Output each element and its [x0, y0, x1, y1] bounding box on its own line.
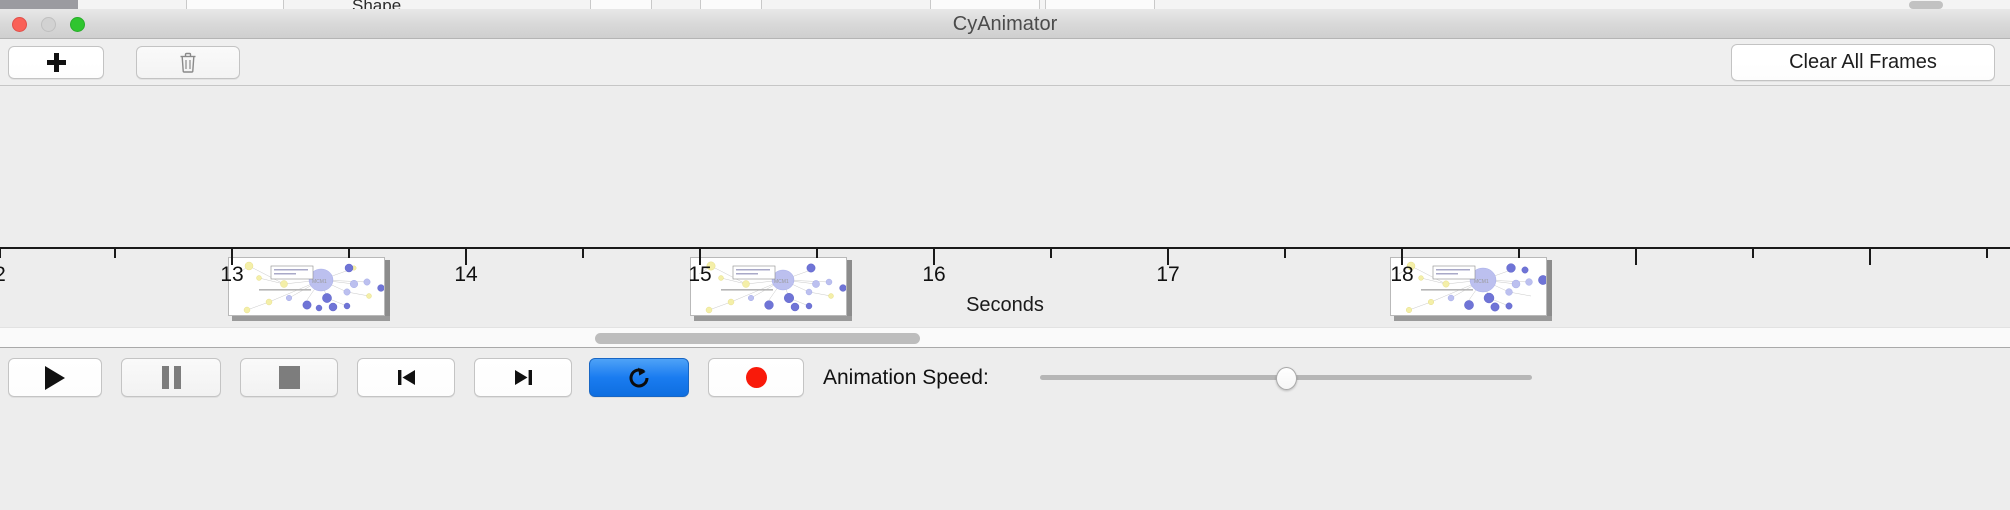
timeline-ruler-line — [0, 247, 2010, 249]
add-frame-button[interactable] — [8, 46, 104, 79]
skip-to-end-icon — [512, 366, 535, 389]
loop-button[interactable] — [589, 358, 689, 397]
slider-thumb[interactable] — [1276, 367, 1297, 390]
ruler-tick-label: 13 — [206, 263, 258, 287]
ruler-tick-minor — [348, 249, 350, 258]
record-icon — [746, 367, 767, 388]
ruler-tick-label: 2 — [0, 263, 14, 287]
background-window-scrollbar — [1909, 1, 1943, 9]
timeline-horizontal-scrollbar[interactable] — [0, 327, 2010, 348]
ruler-tick-minor — [1986, 249, 1988, 258]
pause-button[interactable] — [121, 358, 221, 397]
timeline-axis-title: Seconds — [0, 294, 2010, 317]
animation-speed-slider[interactable] — [1040, 358, 1532, 397]
background-window-strip: Shape — [0, 0, 2010, 9]
timeline-panel[interactable]: MCM1 — [0, 87, 2010, 327]
svg-text:MCM1: MCM1 — [1474, 279, 1489, 285]
ruler-tick-minor — [582, 249, 584, 258]
background-window-tab-e — [1045, 0, 1155, 9]
background-window-tab-b — [590, 0, 652, 9]
background-window-tab-d — [930, 0, 1040, 9]
page-title: CyAnimator — [0, 9, 2010, 39]
ruler-tick-minor — [114, 249, 116, 258]
background-window-tab-a — [186, 0, 284, 9]
skip-to-start-button[interactable] — [357, 358, 455, 397]
stop-button[interactable] — [240, 358, 338, 397]
ruler-tick-label: 16 — [908, 263, 960, 287]
pause-icon — [162, 366, 181, 389]
ruler-tick-minor — [1752, 249, 1754, 258]
clear-all-frames-button[interactable]: Clear All Frames — [1731, 44, 1995, 81]
ruler-tick-label: 14 — [440, 263, 492, 287]
animation-speed-label: Animation Speed: — [823, 358, 989, 397]
skip-to-end-button[interactable] — [474, 358, 572, 397]
ruler-tick-minor — [1518, 249, 1520, 258]
ruler-tick-minor — [0, 249, 1, 258]
play-button[interactable] — [8, 358, 102, 397]
plus-icon — [47, 53, 66, 72]
ruler-tick-label: 17 — [1142, 263, 1194, 287]
svg-text:MCM1: MCM1 — [312, 279, 327, 285]
background-window-tab-c — [700, 0, 762, 9]
loop-icon — [626, 365, 652, 391]
clear-all-frames-label: Clear All Frames — [1789, 51, 1937, 74]
background-window-label: Shape — [352, 0, 401, 9]
stop-icon — [279, 366, 300, 389]
ruler-tick-minor — [1050, 249, 1052, 258]
title-bar: CyAnimator — [0, 9, 2010, 39]
toolbar: Clear All Frames — [0, 39, 2010, 86]
ruler-tick-label: 15 — [674, 263, 726, 287]
playback-control-bar: Animation Speed: — [0, 348, 2010, 510]
trash-icon — [179, 52, 197, 73]
skip-to-start-icon — [395, 366, 418, 389]
ruler-tick-major — [1869, 249, 1871, 265]
delete-frame-button[interactable] — [136, 46, 240, 79]
svg-text:MCM1: MCM1 — [774, 279, 789, 285]
cyanimator-window: Shape CyAnimator Clear All Frames — [0, 0, 2010, 510]
ruler-tick-minor — [816, 249, 818, 258]
ruler-tick-label: 18 — [1376, 263, 1428, 287]
play-icon — [45, 366, 65, 390]
record-button[interactable] — [708, 358, 804, 397]
background-window-dark-area — [0, 0, 78, 9]
ruler-tick-major — [1635, 249, 1637, 265]
scrollbar-thumb[interactable] — [595, 333, 920, 344]
ruler-tick-minor — [1284, 249, 1286, 258]
